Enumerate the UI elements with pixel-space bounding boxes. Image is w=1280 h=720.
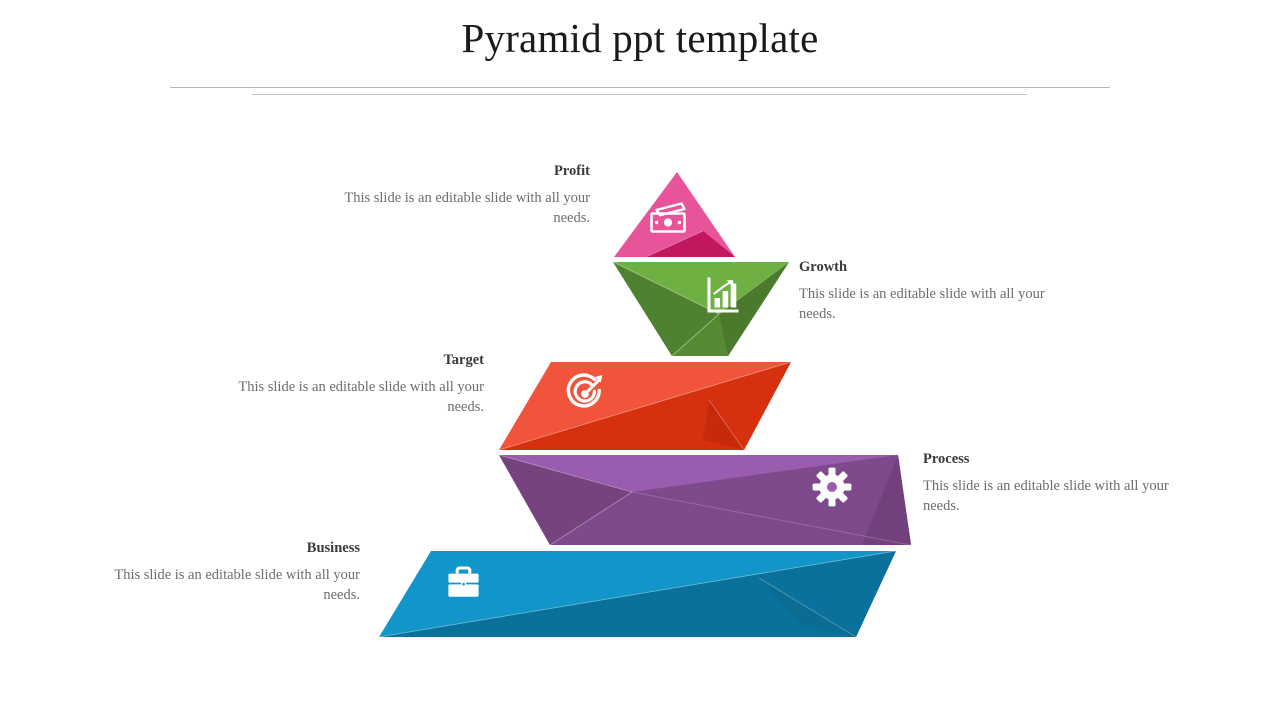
- pyramid-level-business[interactable]: [379, 551, 896, 637]
- callout-target: Target This slide is an editable slide w…: [234, 352, 484, 417]
- callout-profit: Profit This slide is an editable slide w…: [340, 163, 590, 228]
- callout-target-description: This slide is an editable slide with all…: [234, 378, 484, 417]
- pyramid-level-growth[interactable]: [613, 262, 789, 356]
- pyramid-level-target[interactable]: [499, 362, 791, 450]
- callout-process-description: This slide is an editable slide with all…: [923, 477, 1173, 516]
- callout-growth: Growth This slide is an editable slide w…: [799, 259, 1049, 324]
- pyramid-diagram: [0, 0, 1280, 720]
- callout-process: Process This slide is an editable slide …: [923, 451, 1173, 516]
- pyramid-level-process[interactable]: [499, 455, 911, 545]
- callout-process-title: Process: [923, 451, 1173, 468]
- callout-growth-description: This slide is an editable slide with all…: [799, 285, 1049, 324]
- callout-growth-title: Growth: [799, 259, 1049, 276]
- gear-icon: [813, 468, 852, 507]
- callout-business-title: Business: [110, 540, 360, 557]
- callout-profit-description: This slide is an editable slide with all…: [340, 189, 590, 228]
- callout-profit-title: Profit: [340, 163, 590, 180]
- pyramid-level-profit[interactable]: [614, 172, 735, 257]
- callout-business: Business This slide is an editable slide…: [110, 540, 360, 605]
- callout-business-description: This slide is an editable slide with all…: [110, 566, 360, 605]
- callout-target-title: Target: [234, 352, 484, 369]
